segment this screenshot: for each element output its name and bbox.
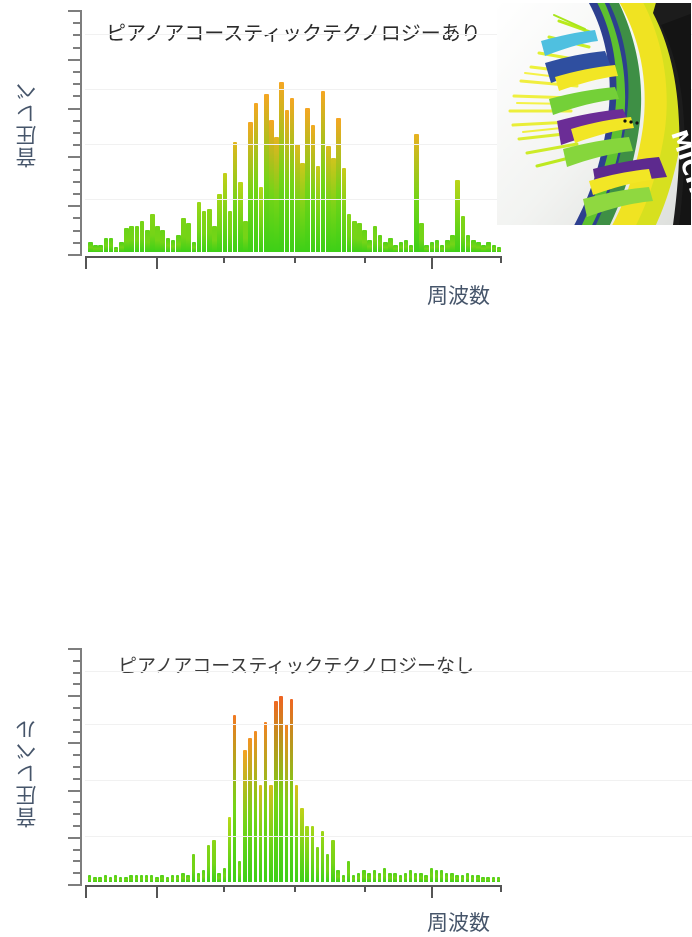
bar: [166, 238, 171, 252]
bar: [492, 245, 497, 252]
bar: [207, 845, 210, 882]
bar: [248, 122, 253, 252]
y-axis-bottom: [68, 648, 82, 886]
x-axis-minor-tick: [364, 256, 366, 263]
bar: [300, 163, 305, 252]
y-axis-major-tick: [68, 156, 82, 158]
y-axis-minor-tick: [73, 719, 82, 721]
y-axis-minor-tick: [73, 778, 82, 780]
y-axis-major-tick: [68, 695, 82, 697]
bar: [197, 873, 200, 882]
bar: [243, 750, 246, 882]
bar: [404, 240, 409, 252]
x-axis-major-tick: [85, 885, 87, 898]
bar: [192, 242, 197, 252]
y-axis-major-tick: [68, 648, 82, 650]
bar: [238, 861, 241, 882]
bar: [290, 98, 295, 252]
bar: [104, 238, 109, 252]
bar: [331, 158, 336, 252]
bar: [212, 840, 215, 882]
bar: [160, 875, 163, 882]
bar: [347, 861, 350, 882]
y-axis-minor-tick: [73, 707, 82, 709]
bar: [135, 226, 140, 252]
y-axis-minor-tick: [73, 672, 82, 674]
bar: [331, 840, 334, 882]
bar: [109, 877, 112, 882]
gridline: [85, 836, 692, 837]
bar: [486, 242, 491, 252]
bar: [192, 854, 195, 882]
y-axis-minor-tick: [73, 731, 82, 733]
bar: [264, 94, 269, 252]
bar: [435, 870, 438, 882]
bar: [393, 873, 396, 882]
bar: [445, 873, 448, 882]
bar: [471, 875, 474, 882]
y-axis-minor-tick: [73, 193, 82, 195]
bar: [414, 134, 419, 252]
bar: [243, 221, 248, 252]
y-axis-minor-tick: [73, 660, 82, 662]
bar: [440, 870, 443, 882]
y-axis-minor-tick: [73, 860, 82, 862]
bar: [274, 137, 279, 252]
y-axis-minor-tick: [73, 766, 82, 768]
bar: [254, 731, 257, 882]
bar: [186, 223, 191, 252]
bar: [248, 738, 251, 882]
gridline: [85, 780, 692, 781]
y-axis-label-bottom: 音圧レベル: [12, 653, 42, 828]
bar: [461, 216, 466, 252]
y-axis-minor-tick: [73, 22, 82, 24]
bar: [202, 211, 207, 252]
y-axis-minor-tick: [73, 120, 82, 122]
y-axis-major-tick: [68, 59, 82, 61]
y-axis-major-tick: [68, 10, 82, 12]
y-axis-minor-tick: [73, 169, 82, 171]
y-axis-minor-tick: [73, 754, 82, 756]
bar: [176, 875, 179, 882]
bar: [155, 226, 160, 252]
x-axis-bottom: [85, 885, 502, 901]
y-axis-minor-tick: [73, 230, 82, 232]
x-axis-major-tick: [156, 256, 158, 269]
bar: [217, 194, 222, 252]
bar: [399, 242, 404, 252]
bar: [424, 245, 429, 252]
bar: [197, 202, 202, 252]
y-axis-minor-tick: [73, 34, 82, 36]
bar: [114, 247, 119, 252]
bar: [135, 875, 138, 882]
bar: [295, 785, 298, 882]
bar: [450, 235, 455, 252]
bar: [336, 870, 339, 882]
y-axis-minor-tick: [73, 83, 82, 85]
bar: [274, 701, 277, 882]
x-axis-minor-tick: [500, 885, 502, 892]
x-axis-label-bottom: 周波数: [427, 907, 490, 937]
bar: [109, 238, 114, 252]
bar: [461, 875, 464, 882]
figure-root: 音圧レベ ピアノアコースティックテクノロジーあり 周波数 音圧レベル ピアノアコ…: [0, 0, 692, 630]
bar: [352, 221, 357, 252]
bar: [497, 877, 500, 882]
bar: [233, 715, 236, 882]
bar: [430, 868, 433, 882]
bar: [305, 108, 310, 252]
bar: [367, 240, 372, 252]
bar: [93, 245, 98, 252]
bar: [378, 873, 381, 882]
bar: [233, 142, 238, 252]
y-axis-major-tick: [68, 837, 82, 839]
gridline: [85, 724, 692, 725]
bar: [145, 875, 148, 882]
bar: [269, 120, 274, 252]
bar: [419, 873, 422, 882]
bar: [388, 873, 391, 882]
y-axis-minor-tick: [73, 47, 82, 49]
bar: [455, 180, 460, 252]
x-axis-minor-tick: [294, 256, 296, 263]
bar: [466, 235, 471, 252]
chart-without-piano-acoustic-technology: 音圧レベル ピアノアコースティックテクノロジーなし 周波数: [0, 315, 692, 630]
bar: [98, 245, 103, 252]
bar: [119, 242, 124, 252]
y-axis-major-tick: [68, 205, 82, 207]
y-axis-minor-tick: [73, 813, 82, 815]
bar: [171, 875, 174, 882]
bar: [124, 877, 127, 882]
bar: [409, 870, 412, 882]
bar: [124, 228, 129, 252]
y-axis-minor-tick: [73, 144, 82, 146]
bar: [279, 82, 284, 252]
tire-tread-simulation-photo: MICHE: [497, 3, 691, 225]
x-axis-major-tick: [85, 256, 87, 269]
bar: [300, 808, 303, 882]
x-axis-major-tick: [431, 256, 433, 269]
bar: [129, 226, 134, 252]
bar: [264, 722, 267, 882]
bar: [160, 230, 165, 252]
plot-area-bottom: [85, 650, 692, 882]
y-axis-major-tick: [68, 108, 82, 110]
bar: [424, 875, 427, 882]
bar: [414, 873, 417, 882]
y-axis-minor-tick: [73, 132, 82, 134]
x-axis-minor-tick: [500, 256, 502, 263]
bar: [347, 214, 352, 252]
bar: [399, 875, 402, 882]
bar: [342, 875, 345, 882]
bar: [430, 242, 435, 252]
x-axis-major-tick: [431, 885, 433, 898]
bar: [290, 699, 293, 882]
bar: [316, 847, 319, 882]
y-axis-minor-tick: [73, 95, 82, 97]
bar: [285, 724, 288, 882]
bar: [373, 870, 376, 882]
bar: [435, 240, 440, 252]
bar: [445, 240, 450, 252]
x-axis-top: [85, 256, 502, 272]
bar: [254, 103, 259, 252]
y-axis-major-tick: [68, 742, 82, 744]
bar: [388, 238, 393, 252]
bar: [383, 242, 388, 252]
y-axis-minor-tick: [73, 825, 82, 827]
bar: [228, 211, 233, 252]
bar: [150, 214, 155, 252]
y-axis-major-tick: [68, 790, 82, 792]
bar: [362, 230, 367, 252]
bar: [207, 209, 212, 252]
bar: [357, 223, 362, 252]
bar: [471, 240, 476, 252]
bar: [373, 226, 378, 252]
bar: [486, 877, 489, 882]
bar: [228, 817, 231, 882]
bar: [259, 187, 264, 252]
bar: [326, 854, 329, 882]
bar: [145, 230, 150, 252]
bar: [497, 247, 502, 252]
bar: [295, 144, 300, 252]
x-axis-minor-tick: [223, 885, 225, 892]
bar: [378, 235, 383, 252]
bar: [352, 875, 355, 882]
bar: [476, 242, 481, 252]
bar: [269, 785, 272, 882]
y-axis-major-tick: [68, 254, 82, 256]
bar: [88, 875, 91, 882]
gridline: [85, 671, 692, 672]
bar: [357, 873, 360, 882]
bar: [404, 873, 407, 882]
bar: [166, 877, 169, 882]
y-axis-minor-tick: [73, 242, 82, 244]
bar: [88, 242, 93, 252]
x-axis-minor-tick: [294, 885, 296, 892]
bar: [140, 875, 143, 882]
bar: [181, 873, 184, 882]
bar: [481, 877, 484, 882]
y-axis-minor-tick: [73, 849, 82, 851]
bar: [393, 245, 398, 252]
bar: [155, 877, 158, 882]
bar: [476, 875, 479, 882]
bar: [217, 873, 220, 882]
bar: [455, 875, 458, 882]
bar: [181, 218, 186, 252]
y-axis-minor-tick: [73, 801, 82, 803]
bar: [202, 870, 205, 882]
bar: [140, 221, 145, 252]
bar: [367, 873, 370, 882]
bar: [450, 873, 453, 882]
x-axis-major-tick: [156, 885, 158, 898]
bar: [440, 245, 445, 252]
bar: [176, 235, 181, 252]
bar: [383, 868, 386, 882]
x-axis-minor-tick: [364, 885, 366, 892]
bar-series-bottom: [85, 650, 692, 882]
bar: [238, 182, 243, 252]
bar: [171, 240, 176, 252]
bar: [362, 870, 365, 882]
bar: [212, 226, 217, 252]
y-axis-minor-tick: [73, 872, 82, 874]
y-axis-major-tick: [68, 884, 82, 886]
bar: [466, 873, 469, 882]
bar: [316, 166, 321, 252]
bar: [223, 868, 226, 882]
y-axis-minor-tick: [73, 181, 82, 183]
bar: [186, 875, 189, 882]
bar: [481, 245, 486, 252]
bar: [409, 245, 414, 252]
y-axis-top: [68, 10, 82, 256]
bar: [104, 875, 107, 882]
x-axis-minor-tick: [223, 256, 225, 263]
y-axis-label-top: 音圧レベ: [12, 18, 42, 168]
bar: [119, 877, 122, 882]
bar: [342, 168, 347, 252]
bar: [285, 110, 290, 252]
bar: [321, 91, 326, 252]
bar: [492, 877, 495, 882]
bar: [321, 831, 324, 882]
x-axis-label-top: 周波数: [427, 280, 490, 310]
y-axis-minor-tick: [73, 217, 82, 219]
bar: [114, 875, 117, 882]
y-axis-minor-tick: [73, 71, 82, 73]
bar: [419, 223, 424, 252]
bar: [150, 875, 153, 882]
y-axis-minor-tick: [73, 683, 82, 685]
bar: [223, 173, 228, 252]
bar: [98, 877, 101, 882]
bar: [129, 875, 132, 882]
bar: [259, 785, 262, 882]
bar: [93, 877, 96, 882]
bar: [336, 118, 341, 252]
